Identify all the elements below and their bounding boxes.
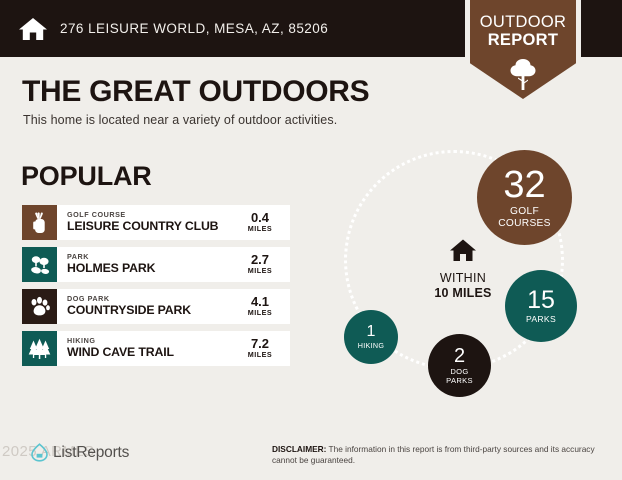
- list-item-name: LEISURE COUNTRY CLUB: [67, 219, 234, 233]
- list-item-distance: 2.7 MILES: [234, 247, 290, 282]
- list-item-category: GOLF COURSE: [67, 211, 234, 219]
- distance-value: 4.1: [251, 295, 269, 309]
- bubble-dog-parks[interactable]: 2 DOG PARKS: [428, 334, 491, 397]
- list-item-name: HOLMES PARK: [67, 261, 234, 275]
- distance-value: 0.4: [251, 211, 269, 225]
- distance-unit: MILES: [248, 225, 272, 234]
- list-item[interactable]: PARK HOLMES PARK 2.7 MILES: [22, 247, 290, 282]
- badge-text: OUTDOOR REPORT: [470, 14, 576, 49]
- page-subtitle: This home is located near a variety of o…: [23, 113, 337, 127]
- center-line-1: WITHIN: [407, 271, 519, 286]
- list-item[interactable]: GOLF COURSE LEISURE COUNTRY CLUB 0.4 MIL…: [22, 205, 290, 240]
- list-item-distance: 7.2 MILES: [234, 331, 290, 366]
- list-item-distance: 4.1 MILES: [234, 289, 290, 324]
- header-content: 276 LEISURE WORLD, MESA, AZ, 85206: [18, 0, 328, 57]
- list-item-category: DOG PARK: [67, 295, 234, 303]
- bubble-golf-courses[interactable]: 32 GOLF COURSES: [477, 150, 572, 245]
- distance-unit: MILES: [248, 267, 272, 276]
- list-item-text: HIKING WIND CAVE TRAIL: [57, 331, 234, 366]
- park-trees-icon: [22, 247, 57, 282]
- tree-icon: [470, 58, 576, 96]
- listreports-logo-text: ListReports: [53, 444, 129, 462]
- list-item-text: DOG PARK COUNTRYSIDE PARK: [57, 289, 234, 324]
- distance-value: 7.2: [251, 337, 269, 351]
- golf-bag-icon: [22, 205, 57, 240]
- diagram-center: WITHIN 10 MILES: [407, 238, 519, 301]
- bubble-parks[interactable]: 15 PARKS: [505, 270, 577, 342]
- popular-list: GOLF COURSE LEISURE COUNTRY CLUB 0.4 MIL…: [22, 205, 290, 373]
- bubble-label-line-1: GOLF: [510, 206, 539, 217]
- listreports-house-icon: [30, 443, 49, 462]
- list-item-text: PARK HOLMES PARK: [57, 247, 234, 282]
- badge-line-1: OUTDOOR: [470, 14, 576, 32]
- section-title-popular: POPULAR: [21, 161, 152, 192]
- list-item-category: HIKING: [67, 337, 234, 345]
- outdoor-report-page: 276 LEISURE WORLD, MESA, AZ, 85206 OUTDO…: [0, 0, 622, 480]
- distance-unit: MILES: [248, 351, 272, 360]
- bubble-count: 2: [454, 346, 465, 366]
- list-item-text: GOLF COURSE LEISURE COUNTRY CLUB: [57, 205, 234, 240]
- list-item-distance: 0.4 MILES: [234, 205, 290, 240]
- within-10-miles-diagram: WITHIN 10 MILES 32 GOLF COURSES 15 PARKS…: [312, 138, 612, 423]
- page-title: THE GREAT OUTDOORS: [22, 75, 369, 109]
- distance-unit: MILES: [248, 309, 272, 318]
- paw-print-icon: [22, 289, 57, 324]
- bubble-label: PARKS: [526, 315, 556, 325]
- list-item[interactable]: DOG PARK COUNTRYSIDE PARK 4.1 MILES: [22, 289, 290, 324]
- bubble-label: HIKING: [358, 342, 385, 350]
- bubble-hiking[interactable]: 1 HIKING: [344, 310, 398, 364]
- listreports-logo[interactable]: ListReports: [30, 443, 129, 462]
- list-item-name: COUNTRYSIDE PARK: [67, 303, 234, 317]
- bubble-label-line-2: COURSES: [498, 218, 550, 229]
- pine-trees-icon: [22, 331, 57, 366]
- disclaimer: DISCLAIMER: The information in this repo…: [272, 444, 602, 467]
- bubble-count: 15: [527, 288, 555, 313]
- disclaimer-label: DISCLAIMER:: [272, 444, 326, 454]
- bubble-count: 1: [367, 324, 376, 340]
- header-address: 276 LEISURE WORLD, MESA, AZ, 85206: [60, 21, 328, 36]
- center-line-2: 10 MILES: [407, 286, 519, 301]
- list-item-name: WIND CAVE TRAIL: [67, 345, 234, 359]
- list-item-category: PARK: [67, 253, 234, 261]
- list-item[interactable]: HIKING WIND CAVE TRAIL 7.2 MILES: [22, 331, 290, 366]
- distance-value: 2.7: [251, 253, 269, 267]
- bubble-count: 32: [503, 166, 545, 204]
- home-icon: [18, 16, 48, 42]
- bubble-label-line-2: PARKS: [446, 377, 473, 386]
- home-icon: [407, 238, 519, 268]
- badge-line-2: REPORT: [470, 32, 576, 50]
